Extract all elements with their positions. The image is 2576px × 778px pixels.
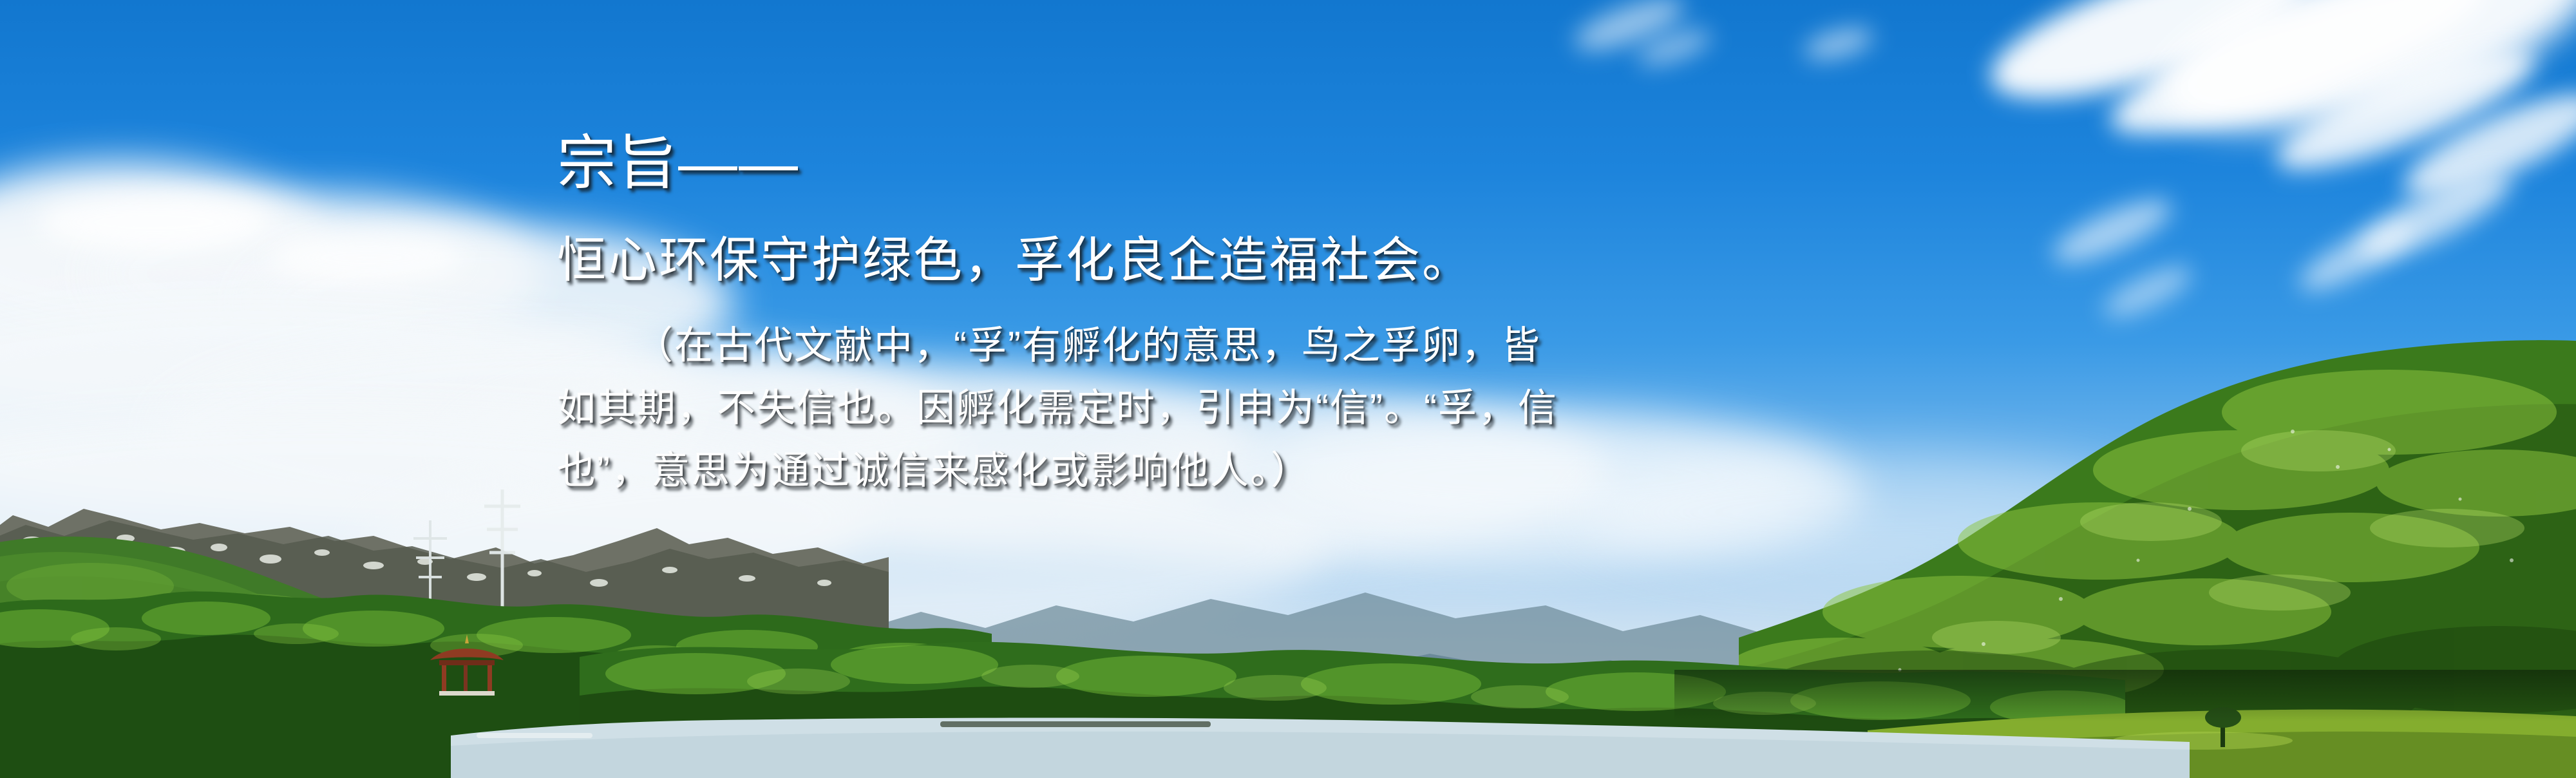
page-title: 宗旨—— [557, 129, 2038, 199]
note-line-3: 也”，意思为通过诚信来感化或影响他人。） [557, 439, 1961, 502]
slogan-text: 恒心环保守护绿色，孚化良企造福社会。 [557, 230, 2038, 291]
shore-shadow [1674, 670, 2576, 721]
note-line-2: 如其期，不失信也。因孵化需定时，引申为“信”。“孚，信 [557, 377, 1961, 439]
slide-canvas: 宗旨—— 恒心环保守护绿色，孚化良企造福社会。 （在古代文献中，“孚”有孵化的意… [0, 0, 2576, 778]
explanatory-note: （在古代文献中，“孚”有孵化的意思，鸟之孚卵，皆 如其期，不失信也。因孵化需定时… [557, 314, 1961, 502]
slide-text-block: 宗旨—— 恒心环保守护绿色，孚化良企造福社会。 （在古代文献中，“孚”有孵化的意… [557, 129, 2038, 502]
note-line-1: （在古代文献中，“孚”有孵化的意思，鸟之孚卵，皆 [557, 314, 1961, 377]
